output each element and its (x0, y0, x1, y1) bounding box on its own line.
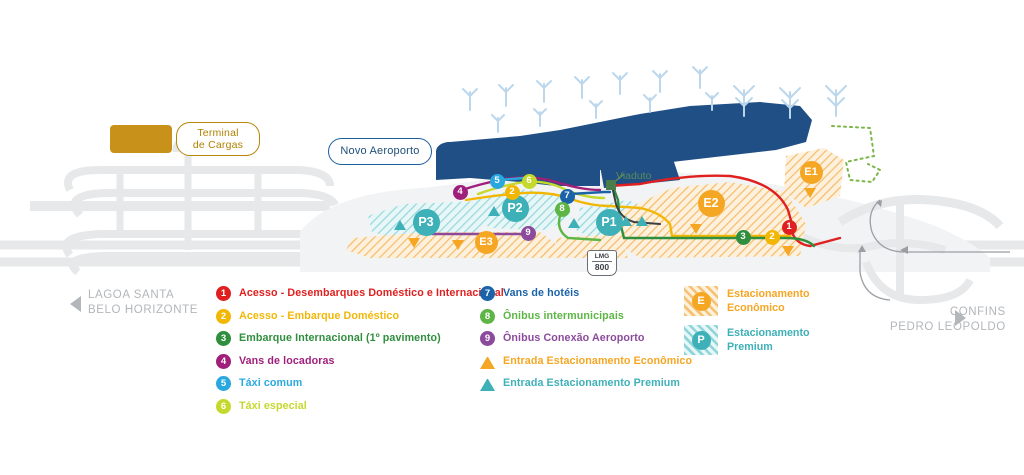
direction-left-label: LAGOA SANTA BELO HORIZONTE (88, 288, 198, 318)
legend-label-5: Táxi comum (239, 376, 302, 391)
cargo-terminal-block (110, 125, 172, 153)
cargo-terminal-label-line2: de Cargas (193, 139, 243, 151)
highway-shield-lmg800: LMG 800 (587, 250, 617, 276)
legend-label-2: Acesso - Embarque Doméstico (239, 309, 399, 324)
legend-item-5[interactable]: 5Táxi comum (216, 376, 504, 392)
legend-item-entrance-3[interactable]: Entrada Estacionamento Econômico (480, 354, 692, 370)
map-route-marker-6[interactable]: 6 (522, 174, 537, 189)
map-route-marker-3[interactable]: 3 (736, 230, 751, 245)
legend-badge-3: 3 (216, 331, 231, 346)
legend-badge-4: 4 (216, 354, 231, 369)
legend-label-9: Ônibus Conexão Aeroporto (503, 331, 645, 346)
legend-parking-swatch-p: P (684, 325, 718, 355)
legend-parking-p[interactable]: PEstacionamentoPremium (684, 325, 810, 355)
legend-item-4[interactable]: 4Vans de locadoras (216, 354, 504, 370)
map-route-marker-4[interactable]: 4 (453, 185, 468, 200)
direction-right-label: CONFINS PEDRO LEOPOLDO (890, 305, 1006, 335)
highway-shield-prefix: LMG (595, 254, 609, 261)
legend-badge-5: 5 (216, 376, 231, 391)
legend-parking-label-e: EstacionamentoEconômico (727, 287, 810, 316)
airport-access-map: Terminal de Cargas Novo Aeroporto Viadut… (0, 0, 1024, 475)
legend-label-4: Vans de locadoras (239, 354, 335, 369)
direction-right-line1: CONFINS (890, 305, 1006, 320)
map-route-marker-1[interactable]: 1 (782, 220, 797, 235)
legend-parking-swatch-e: E (684, 286, 718, 316)
legend-item-9[interactable]: 9Ônibus Conexão Aeroporto (480, 331, 692, 347)
cargo-terminal-label-line1: Terminal (197, 127, 238, 139)
direction-right-line2: PEDRO LEOPOLDO (890, 320, 1006, 335)
new-airport-label: Novo Aeroporto (340, 145, 419, 158)
map-route-marker-9[interactable]: 9 (521, 226, 536, 241)
legend-item-6[interactable]: 6Táxi especial (216, 399, 504, 415)
direction-left-line1: LAGOA SANTA (88, 288, 198, 303)
map-route-marker-2[interactable]: 2 (505, 185, 520, 200)
legend-badge-6: 6 (216, 399, 231, 414)
legend-label-8: Ônibus intermunicipais (503, 309, 624, 324)
legend-parking-label-p: EstacionamentoPremium (727, 326, 810, 355)
legend-badge-7: 7 (480, 286, 495, 301)
legend-label-6: Táxi especial (239, 399, 307, 414)
legend-item-entrance-4[interactable]: Entrada Estacionamento Premium (480, 376, 692, 392)
legend-badge-8: 8 (480, 309, 495, 324)
map-zone-marker-e1[interactable]: E1 (800, 161, 823, 184)
map-route-marker-2b[interactable]: 2 (765, 230, 780, 245)
map-zone-marker-p1[interactable]: P1 (596, 209, 623, 236)
viaduct-node (606, 180, 616, 190)
legend-badge-9: 9 (480, 331, 495, 346)
legend-triangle-icon (480, 379, 495, 391)
map-route-marker-8[interactable]: 8 (555, 202, 570, 217)
viaduct-label: Viaduto (616, 170, 651, 182)
map-route-marker-5[interactable]: 5 (490, 174, 505, 189)
new-airport-callout[interactable]: Novo Aeroporto (328, 138, 432, 165)
legend-label-3: Embarque Internacional (1º pavimento) (239, 331, 441, 346)
legend-item-7[interactable]: 7Vans de hotéis (480, 286, 692, 302)
legend-item-8[interactable]: 8Ônibus intermunicipais (480, 309, 692, 325)
legend-item-2[interactable]: 2Acesso - Embarque Doméstico (216, 309, 504, 325)
legend-badge-2: 2 (216, 309, 231, 324)
direction-left-line2: BELO HORIZONTE (88, 303, 198, 318)
map-graphics (0, 0, 1024, 475)
legend-column-access-routes: 1Acesso - Desembarques Doméstico e Inter… (216, 286, 504, 421)
legend-parking-badge-p: P (692, 331, 711, 350)
highway-shield-number: 800 (595, 263, 609, 272)
direction-left-arrow-icon (70, 296, 81, 312)
legend-parking-label-line1: Estacionamento (727, 326, 810, 340)
legend-parking-label-line2: Econômico (727, 301, 810, 315)
legend-column-parking: EEstacionamentoEconômicoPEstacionamentoP… (684, 286, 810, 364)
legend-item-1[interactable]: 1Acesso - Desembarques Doméstico e Inter… (216, 286, 504, 302)
legend-label-1: Acesso - Desembarques Doméstico e Intern… (239, 286, 504, 301)
legend-parking-label-line1: Estacionamento (727, 287, 810, 301)
legend-column-transport: 7Vans de hotéis8Ônibus intermunicipais9Ô… (480, 286, 692, 399)
legend-triangle-icon (480, 357, 495, 369)
legend-label-7: Vans de hotéis (503, 286, 579, 301)
legend-parking-badge-e: E (692, 292, 711, 311)
map-zone-marker-e3[interactable]: E3 (475, 231, 498, 254)
map-zone-marker-e2[interactable]: E2 (698, 190, 725, 217)
legend-parking-e[interactable]: EEstacionamentoEconômico (684, 286, 810, 316)
legend-label-entrance-4: Entrada Estacionamento Premium (503, 376, 680, 391)
legend-badge-1: 1 (216, 286, 231, 301)
legend-label-entrance-3: Entrada Estacionamento Econômico (503, 354, 692, 369)
cargo-terminal-callout[interactable]: Terminal de Cargas (176, 122, 260, 156)
legend-parking-label-line2: Premium (727, 340, 810, 354)
legend-item-3[interactable]: 3Embarque Internacional (1º pavimento) (216, 331, 504, 347)
map-zone-marker-p3[interactable]: P3 (413, 209, 440, 236)
